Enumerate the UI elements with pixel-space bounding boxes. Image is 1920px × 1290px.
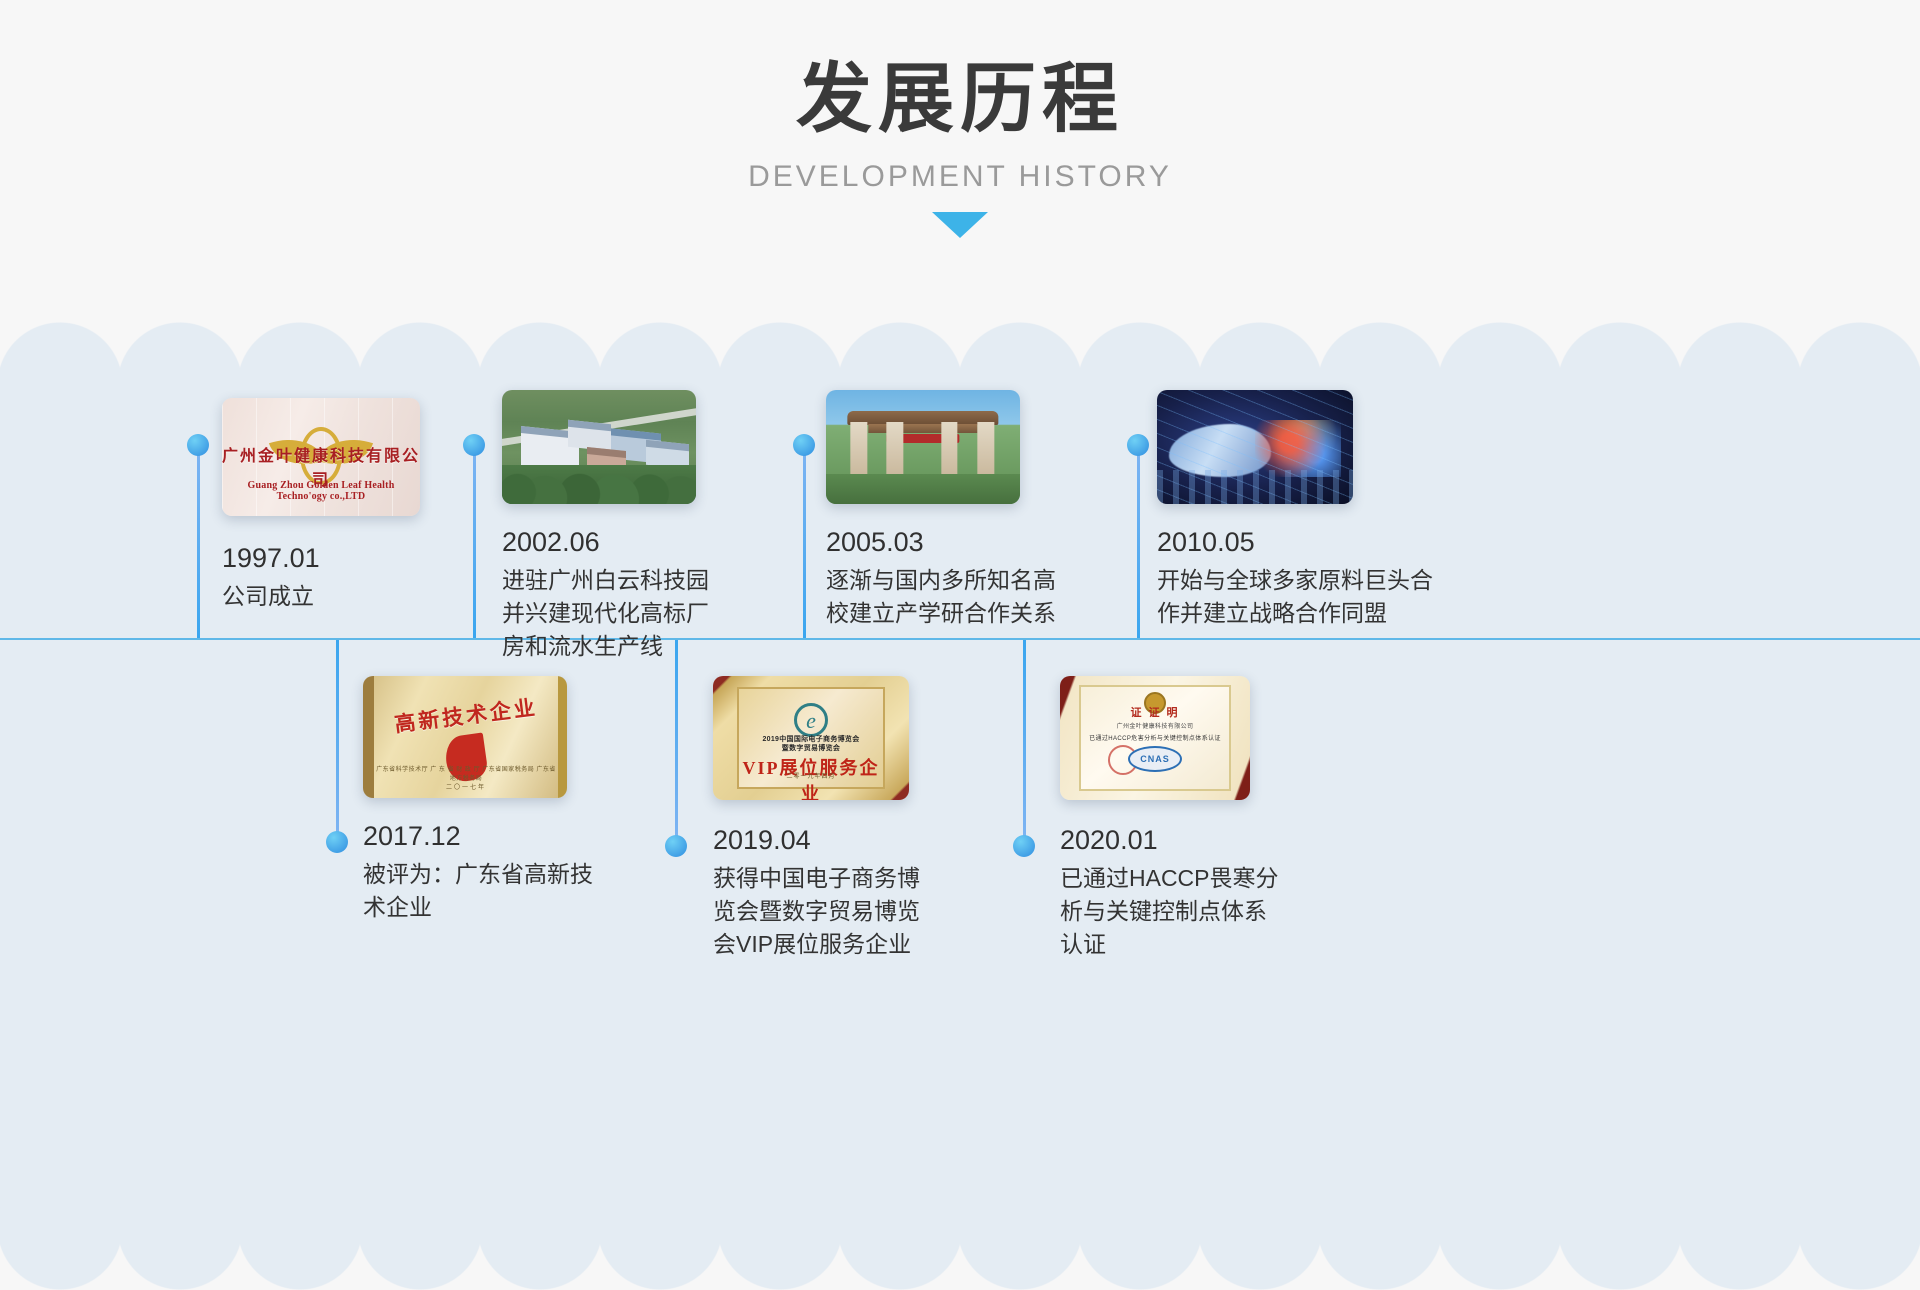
gate-pillar bbox=[977, 422, 994, 476]
haccp-certificate-artwork: 证 证 明 广州金叶健康科技有限公司 已通过HACCP危害分析与关键控制点体系认… bbox=[1060, 676, 1250, 800]
timeline-event-2019[interactable]: e 2019中国国际电子商务博览会 暨数字贸易博览会 VIP展位服务企业 二零一… bbox=[713, 676, 920, 962]
vip-booth-service-plaque[interactable]: e 2019中国国际电子商务博览会 暨数字贸易博览会 VIP展位服务企业 二零一… bbox=[713, 676, 909, 800]
factory-aerial-photo[interactable] bbox=[502, 390, 696, 504]
timeline-event-2005[interactable]: 2005.03 逐渐与国内多所知名高 校建立产学研合作关系 bbox=[826, 390, 1056, 630]
event-date: 2002.06 bbox=[502, 526, 709, 560]
event-description: 公司成立 bbox=[222, 580, 420, 613]
certificate-statement: 已通过HACCP危害分析与关键控制点体系认证 bbox=[1081, 733, 1229, 742]
cnas-badge: CNAS bbox=[1128, 746, 1182, 772]
gate-arch bbox=[847, 411, 998, 477]
connector-2010 bbox=[1137, 444, 1140, 638]
timeline-event-2002[interactable]: 2002.06 进驻广州白云科技园 并兴建现代化高标厂 房和流水生产线 bbox=[502, 390, 709, 664]
company-signboard-photo[interactable]: 广州金叶健康科技有限公司 Guang Zhou Golden Leaf Heal… bbox=[222, 398, 420, 516]
connector-2017 bbox=[336, 640, 339, 840]
certificate-inner-panel: 证 证 明 广州金叶健康科技有限公司 已通过HACCP危害分析与关键控制点体系认… bbox=[1079, 685, 1231, 792]
gate-roof-lower bbox=[869, 424, 978, 433]
factory-trees bbox=[502, 465, 696, 504]
tech-handshake-artwork bbox=[1157, 390, 1353, 504]
event-description: 已通过HACCP畏寒分 析与关键控制点体系 认证 bbox=[1060, 862, 1279, 962]
signboard-english-text: Guang Zhou Golden Leaf Health Techno'ogy… bbox=[222, 480, 420, 502]
timeline-dot-2017[interactable] bbox=[326, 831, 348, 853]
gate-pillar bbox=[850, 422, 867, 476]
event-date: 1997.01 bbox=[222, 542, 420, 576]
event-description: 逐渐与国内多所知名高 校建立产学研合作关系 bbox=[826, 564, 1056, 631]
timeline-event-2020[interactable]: 证 证 明 广州金叶健康科技有限公司 已通过HACCP危害分析与关键控制点体系认… bbox=[1060, 676, 1279, 962]
factory-artwork bbox=[502, 390, 696, 504]
signboard-artwork: 广州金叶健康科技有限公司 Guang Zhou Golden Leaf Heal… bbox=[222, 398, 420, 516]
page-title: 发展历程 bbox=[0, 0, 1920, 138]
connector-1997 bbox=[197, 444, 200, 638]
event-description: 被评为：广东省高新技 术企业 bbox=[363, 858, 593, 925]
event-date: 2010.05 bbox=[1157, 526, 1433, 560]
timeline-dot-2010[interactable] bbox=[1127, 434, 1149, 456]
event-date: 2020.01 bbox=[1060, 824, 1279, 858]
e-commerce-logo-icon: e bbox=[794, 703, 828, 737]
event-date: 2019.04 bbox=[713, 824, 920, 858]
plaque-line-2: 暨数字贸易博览会 bbox=[739, 743, 884, 753]
event-date: 2017.12 bbox=[363, 820, 593, 854]
plaque-year: 二〇一七年 bbox=[374, 782, 558, 791]
vip-plaque-artwork: e 2019中国国际电子商务博览会 暨数字贸易博览会 VIP展位服务企业 二零一… bbox=[713, 676, 909, 800]
event-description: 获得中国电子商务博 览会暨数字贸易博览 会VIP展位服务企业 bbox=[713, 862, 920, 962]
university-gate-artwork bbox=[826, 390, 1020, 504]
timeline-axis bbox=[0, 638, 1920, 640]
connector-2019 bbox=[675, 640, 678, 844]
gate-ground bbox=[826, 474, 1020, 504]
page-header: 发展历程 DEVELOPMENT HISTORY bbox=[0, 0, 1920, 320]
connector-2020 bbox=[1023, 640, 1026, 844]
connector-2002 bbox=[473, 444, 476, 638]
gate-pillar bbox=[887, 422, 904, 476]
plaque-inner-panel: e 2019中国国际电子商务博览会 暨数字贸易博览会 VIP展位服务企业 二零一… bbox=[737, 687, 886, 789]
university-gate-photo[interactable] bbox=[826, 390, 1020, 504]
event-description: 进驻广州白云科技园 并兴建现代化高标厂 房和流水生产线 bbox=[502, 564, 709, 664]
gold-plaque-artwork: 高新技术企业 广东省科学技术厅 广 东 省 财 政 厅 广东省国家税务局 广东省… bbox=[363, 676, 567, 798]
timeline-event-1997[interactable]: 广州金叶健康科技有限公司 Guang Zhou Golden Leaf Heal… bbox=[222, 398, 420, 613]
page-subtitle: DEVELOPMENT HISTORY bbox=[0, 160, 1920, 194]
plaque-date: 二零一九年四月 bbox=[739, 771, 884, 780]
certificate-title: 证 证 明 bbox=[1081, 704, 1229, 720]
gate-pillar bbox=[941, 422, 958, 476]
connector-2005 bbox=[803, 444, 806, 638]
plaque-issuers: 广东省科学技术厅 广 东 省 财 政 厅 广东省国家税务局 广东省地方税务局 bbox=[374, 764, 558, 782]
event-description: 开始与全球多家原料巨头合 作并建立战略合作同盟 bbox=[1157, 564, 1433, 631]
timeline-dot-2019[interactable] bbox=[665, 835, 687, 857]
timeline-dot-2005[interactable] bbox=[793, 434, 815, 456]
timeline-event-2017[interactable]: 高新技术企业 广东省科学技术厅 广 东 省 财 政 厅 广东省国家税务局 广东省… bbox=[363, 676, 593, 924]
certificate-company: 广州金叶健康科技有限公司 bbox=[1081, 721, 1229, 730]
haccp-certificate-plaque[interactable]: 证 证 明 广州金叶健康科技有限公司 已通过HACCP危害分析与关键控制点体系认… bbox=[1060, 676, 1250, 800]
timeline-dot-2020[interactable] bbox=[1013, 835, 1035, 857]
timeline-event-2010[interactable]: 2010.05 开始与全球多家原料巨头合 作并建立战略合作同盟 bbox=[1157, 390, 1433, 630]
triangle-down-icon bbox=[932, 212, 988, 238]
event-date: 2005.03 bbox=[826, 526, 1056, 560]
high-tech-enterprise-plaque[interactable]: 高新技术企业 广东省科学技术厅 广 东 省 财 政 厅 广东省国家税务局 广东省… bbox=[363, 676, 567, 798]
global-partnership-tech-photo[interactable] bbox=[1157, 390, 1353, 504]
timeline-dot-2002[interactable] bbox=[463, 434, 485, 456]
scallop-edge-bottom bbox=[0, 1164, 1920, 1290]
city-skyline bbox=[1157, 470, 1353, 504]
timeline-dot-1997[interactable] bbox=[187, 434, 209, 456]
